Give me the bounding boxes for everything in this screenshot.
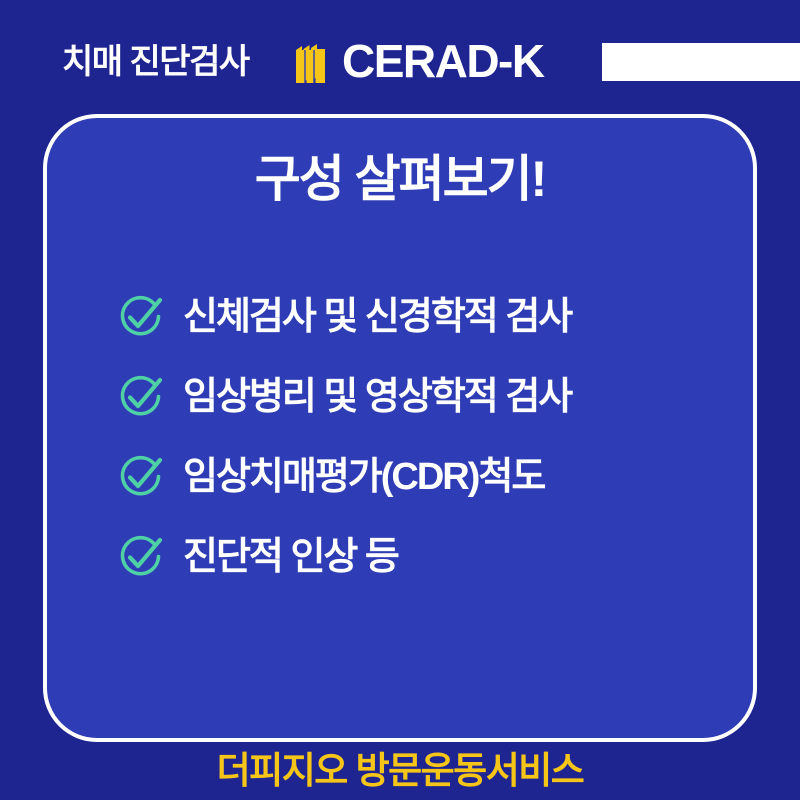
header-brand-text: CERAD-K [342, 33, 544, 89]
poster-canvas: 치매 진단검사 CERAD-K 구성 살펴보기! [0, 0, 800, 800]
books-icon [292, 43, 334, 85]
circle-check-icon [115, 452, 165, 502]
header-kicker-text: 치매 진단검사 [62, 40, 249, 84]
list-item: 임상병리 및 영상학적 검사 [115, 366, 715, 428]
footer-brand-text: 더피지오 방문운동서비스 [217, 748, 584, 794]
circle-check-icon [115, 292, 165, 342]
checklist: 신체검사 및 신경학적 검사 임상병리 및 영상학적 검사 [115, 286, 715, 606]
circle-check-icon [115, 532, 165, 582]
list-item-label: 신체검사 및 신경학적 검사 [183, 292, 571, 342]
circle-check-icon [115, 372, 165, 422]
list-item-label: 임상병리 및 영상학적 검사 [183, 372, 571, 422]
list-item: 신체검사 및 신경학적 검사 [115, 286, 715, 348]
list-item: 진단적 인상 등 [115, 526, 715, 588]
page-title: 구성 살펴보기! [47, 148, 753, 210]
list-item: 임상치매평가(CDR)척도 [115, 446, 715, 508]
header: 치매 진단검사 CERAD-K [0, 0, 800, 114]
header-white-bar [602, 43, 800, 81]
footer: 더피지오 방문운동서비스 [0, 742, 800, 800]
content-panel: 구성 살펴보기! 신체검사 및 신경학적 검사 [43, 114, 757, 742]
list-item-label: 임상치매평가(CDR)척도 [183, 452, 544, 502]
list-item-label: 진단적 인상 등 [183, 532, 398, 582]
